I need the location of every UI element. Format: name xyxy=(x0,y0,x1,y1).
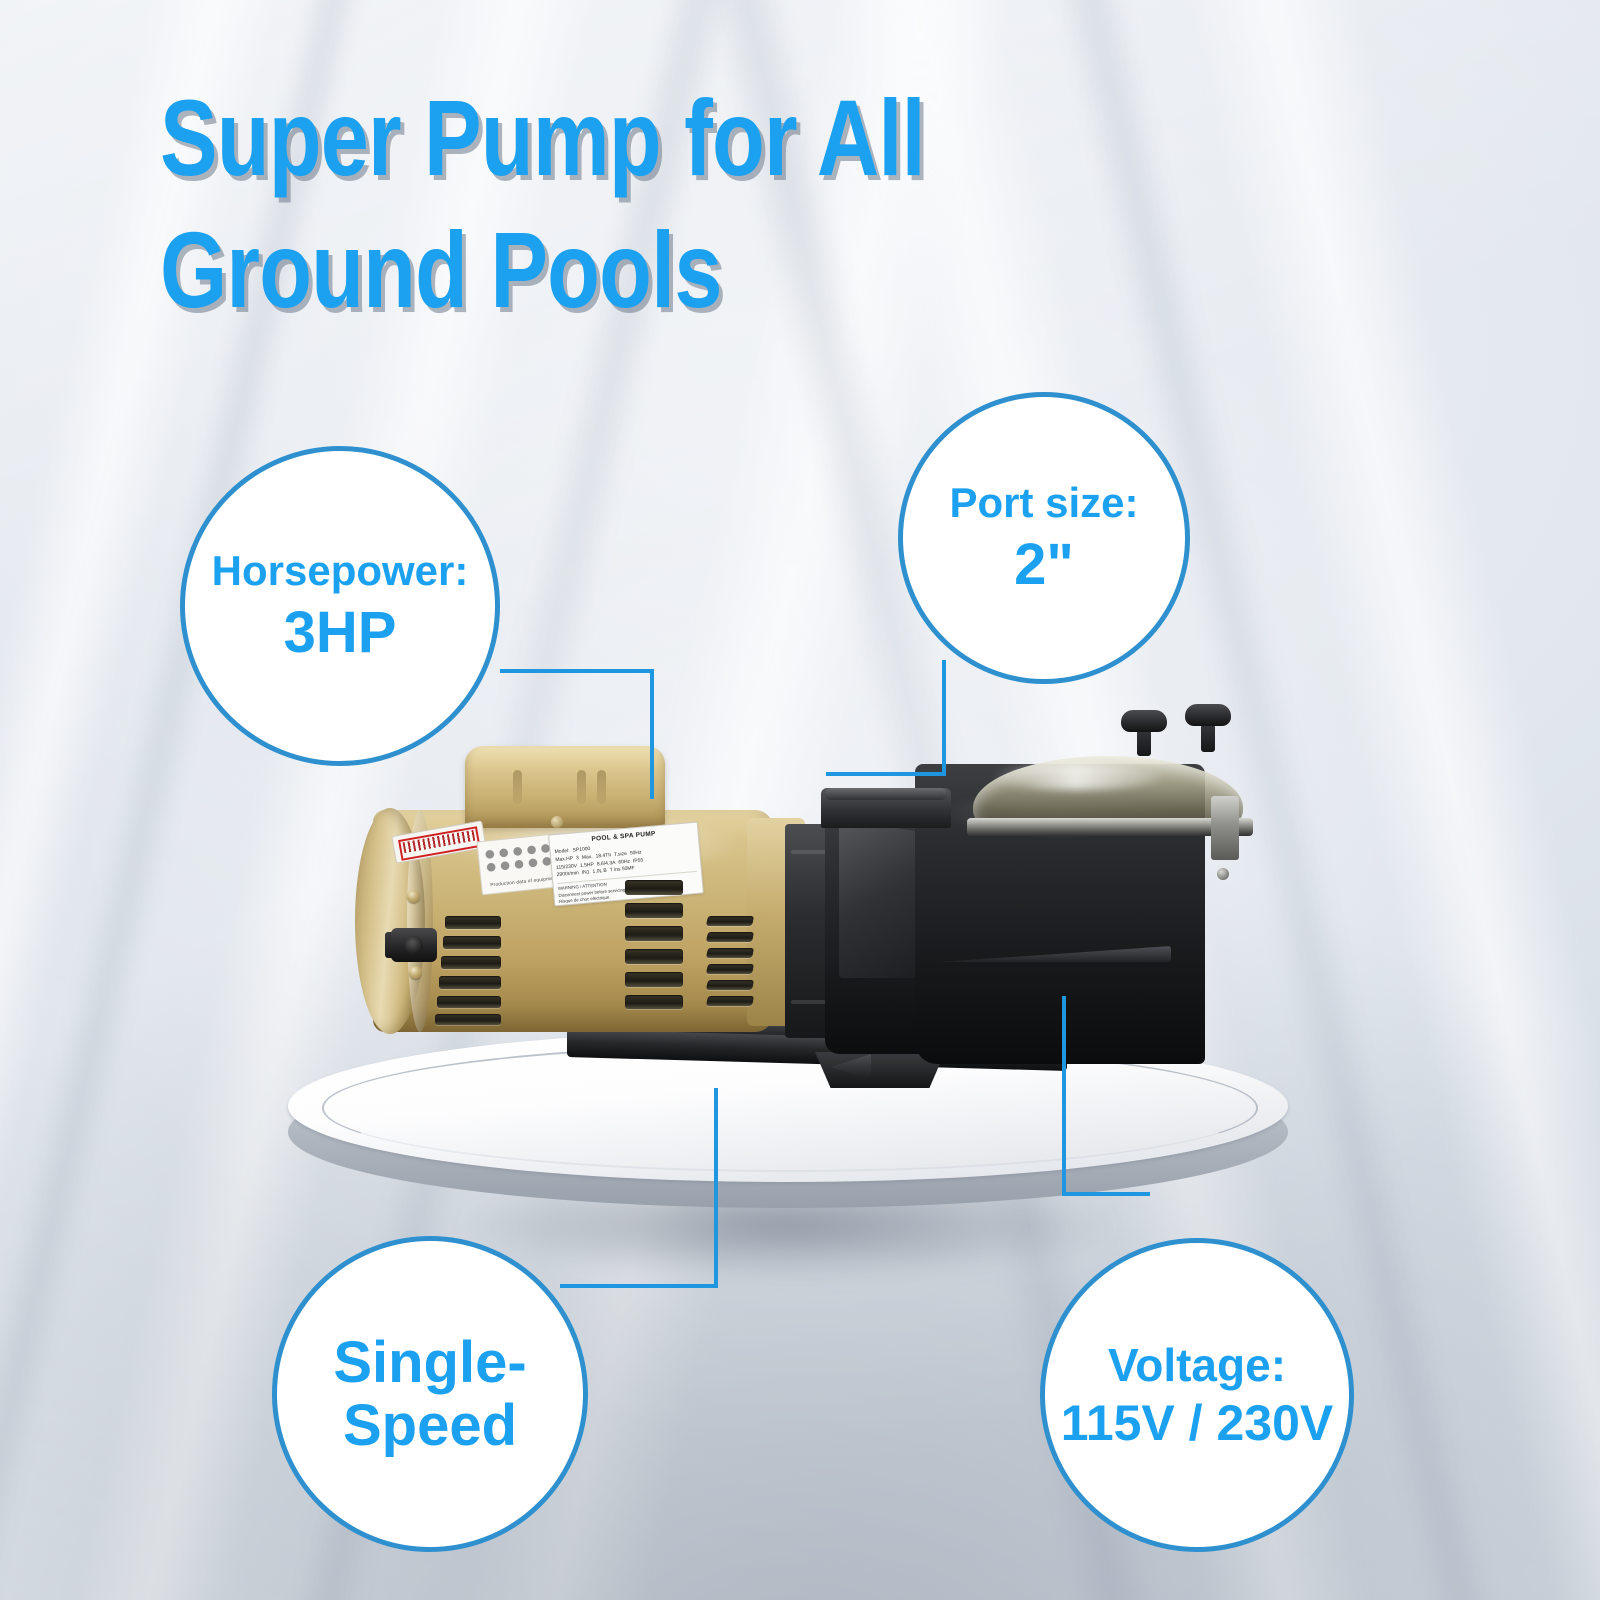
callout-voltage-label: Voltage: xyxy=(1108,1338,1286,1392)
capacitor-screw xyxy=(551,816,563,828)
leader-horsepower-vertical xyxy=(650,669,654,799)
infographic-canvas: Super Pump for All Ground Pools xyxy=(0,0,1600,1600)
leader-horsepower-horizontal xyxy=(500,669,654,673)
cable-gland-opening xyxy=(405,936,423,954)
motor-screw-bottom xyxy=(409,966,422,979)
leader-port-vertical xyxy=(942,660,946,776)
suction-port-lip xyxy=(825,788,947,800)
lid-clamp-bolt xyxy=(1217,868,1229,880)
lid-clamp-bracket xyxy=(1211,796,1239,860)
callout-horsepower[interactable]: Horsepower: 3HP xyxy=(180,446,500,766)
lid-knob-stem-right xyxy=(1201,724,1215,752)
callout-speed[interactable]: Single- Speed xyxy=(272,1236,588,1552)
callout-horsepower-label: Horsepower: xyxy=(212,547,469,595)
callout-port-size-value: 2" xyxy=(1014,531,1074,598)
callout-port-size[interactable]: Port size: 2" xyxy=(898,392,1190,684)
callout-port-size-label: Port size: xyxy=(949,479,1138,527)
lid-knob-right xyxy=(1185,704,1231,726)
capacitor-cover xyxy=(465,746,665,828)
leader-speed-vertical xyxy=(714,1088,718,1288)
leader-port-horizontal xyxy=(826,772,946,776)
callout-voltage-value: 115V / 230V xyxy=(1061,1394,1333,1452)
page-title: Super Pump for All Ground Pools xyxy=(160,72,1144,336)
leader-speed-horizontal xyxy=(560,1284,718,1288)
callout-speed-label: Single- xyxy=(333,1329,526,1396)
callout-speed-value: Speed xyxy=(343,1392,517,1459)
callout-horsepower-value: 3HP xyxy=(284,599,397,666)
lid-knob-stem-left xyxy=(1137,728,1151,756)
motor-screw-top xyxy=(407,890,420,903)
production-data-text: Production data of equipment xyxy=(488,875,560,888)
strainer-lid-gloss xyxy=(991,764,1161,790)
leader-voltage-vertical xyxy=(1062,996,1066,1196)
leader-voltage-horizontal xyxy=(1062,1192,1150,1196)
pool-pump-product-image: Production data of equipment POOL & SPA … xyxy=(355,700,1235,1120)
lid-knob-left xyxy=(1121,710,1167,732)
callout-voltage[interactable]: Voltage: 115V / 230V xyxy=(1040,1238,1354,1552)
